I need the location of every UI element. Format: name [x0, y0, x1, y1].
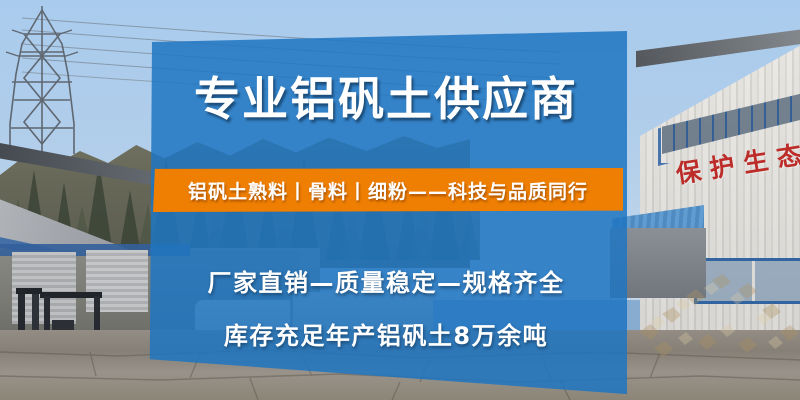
bauxite-supplier-banner: 保护生态: [0, 0, 800, 400]
tagline-bar: 铝矾土熟料丨骨料丨细粉——科技与品质同行: [153, 168, 623, 212]
banner-content: 专业铝矾土供应商 铝矾土熟料丨骨料丨细粉——科技与品质同行 厂家直销—质量稳定—…: [145, 28, 627, 396]
subline-2: 库存充足年产铝矾土8万余吨: [145, 316, 627, 351]
subline-1: 厂家直销—质量稳定—规格齐全: [145, 263, 627, 298]
page-title: 专业铝矾土供应商: [145, 76, 627, 122]
tagline-text: 铝矾土熟料丨骨料丨细粉——科技与品质同行: [188, 177, 588, 204]
